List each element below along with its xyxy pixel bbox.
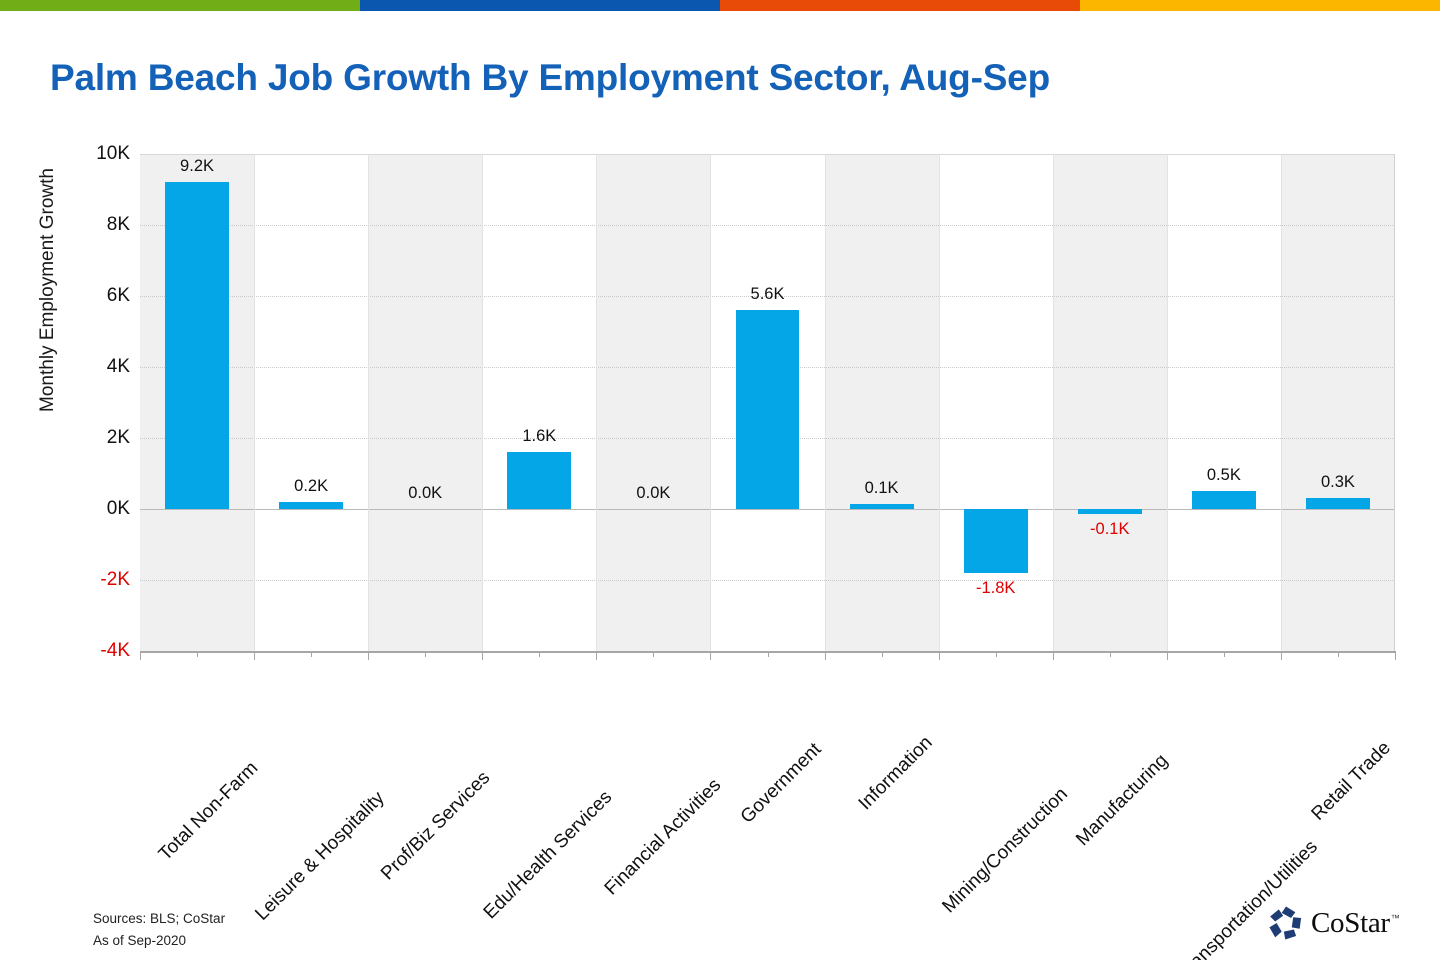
x-axis-category-label[interactable]: Prof/Biz Services [377, 767, 495, 885]
x-axis-category-label-text: Financial Activities [601, 775, 726, 900]
category-divider [1281, 154, 1282, 651]
category-divider [482, 154, 483, 651]
y-axis-tick-label: -2K [46, 569, 130, 591]
plot-area: 9.2K0.2K0.0K1.6K0.0K5.6K0.1K-1.8K-0.1K0.… [140, 154, 1395, 651]
sources-note: Sources: BLS; CoStar As of Sep-2020 [93, 908, 225, 953]
costar-logo: CoStar™ [1268, 903, 1418, 943]
x-axis-tickmark [825, 651, 826, 660]
gridline [140, 225, 1395, 226]
bar-value-label: 0.1K [865, 479, 899, 498]
x-axis-minor-tickmark [1110, 651, 1111, 657]
x-axis-category-label[interactable]: Leisure & Hospitality [251, 787, 389, 925]
x-axis-tickmark [1167, 651, 1168, 660]
x-axis-category-label-text: Mining/Construction [938, 784, 1072, 918]
costar-wordmark-text: CoStar [1311, 907, 1390, 939]
accent-segment-yellow [1080, 0, 1440, 11]
page-title: Palm Beach Job Growth By Employment Sect… [50, 57, 1050, 99]
category-divider [939, 154, 940, 651]
bar[interactable] [279, 502, 343, 509]
bar[interactable] [507, 452, 571, 509]
bar-value-label: 5.6K [751, 285, 785, 304]
x-axis-tickmark [482, 651, 483, 660]
y-axis-tick-labels: 10K8K6K4K2K0K-2K-4K [46, 154, 130, 651]
x-axis-category-label-text: Retail Trade [1308, 737, 1396, 825]
x-axis-tickmark [939, 651, 940, 660]
bar[interactable] [964, 509, 1028, 573]
category-band [482, 154, 596, 651]
y-axis-tick-label: -4K [46, 640, 130, 662]
category-band [1053, 154, 1167, 651]
x-axis-category-label[interactable]: Government [736, 739, 825, 828]
bar-value-label: 1.6K [522, 427, 556, 446]
x-axis-category-label-text: Leisure & Hospitality [251, 787, 389, 925]
category-divider [825, 154, 826, 651]
bar-value-label: 0.0K [636, 484, 670, 503]
x-axis-tickmark [710, 651, 711, 660]
x-axis-category-label[interactable]: Information [854, 732, 937, 815]
x-axis-minor-tickmark [311, 651, 312, 657]
x-axis-minor-tickmark [1224, 651, 1225, 657]
category-divider [1167, 154, 1168, 651]
bar[interactable] [850, 504, 914, 509]
accent-segment-orange [720, 0, 1080, 11]
bar-value-label: 0.0K [408, 484, 442, 503]
top-accent-bar [0, 0, 1440, 11]
x-axis-minor-tickmark [996, 651, 997, 657]
gridline [140, 580, 1395, 581]
bar[interactable] [736, 310, 800, 509]
x-axis-tickmark [1395, 651, 1396, 660]
x-axis-category-label-text: Total Non-Farm [155, 758, 263, 866]
x-axis-minor-tickmark [768, 651, 769, 657]
accent-segment-green [0, 0, 360, 11]
chart-page: Palm Beach Job Growth By Employment Sect… [0, 0, 1440, 960]
bar[interactable] [1078, 509, 1142, 514]
trademark-symbol: ™ [1391, 913, 1400, 923]
x-axis-category-label-text: Government [736, 739, 825, 828]
bar[interactable] [165, 182, 229, 509]
category-band [1167, 154, 1281, 651]
category-divider [368, 154, 369, 651]
costar-wordmark: CoStar™ [1311, 907, 1399, 940]
x-axis-category-label-text: Prof/Biz Services [377, 767, 495, 885]
gridline [140, 509, 1395, 510]
x-axis-category-label[interactable]: Manufacturing [1072, 750, 1173, 851]
x-axis-category-label-text: Manufacturing [1072, 750, 1173, 851]
x-axis-category-label-text: Edu/Health Services [480, 787, 617, 924]
category-divider [1053, 154, 1054, 651]
x-axis-minor-tickmark [197, 651, 198, 657]
x-axis-category-label-text: Information [854, 732, 937, 815]
costar-pinwheel-icon [1268, 905, 1304, 941]
x-axis-category-label[interactable]: Mining/Construction [938, 784, 1072, 918]
gridline [140, 154, 1395, 155]
bar-value-label: -1.8K [976, 579, 1015, 598]
category-band [939, 154, 1053, 651]
bar-value-label: -0.1K [1090, 520, 1129, 539]
bar-value-label: 0.3K [1321, 473, 1355, 492]
x-axis-minor-tickmark [882, 651, 883, 657]
category-band [825, 154, 939, 651]
category-band [368, 154, 482, 651]
plot-right-edge [1394, 154, 1395, 651]
x-axis-minor-tickmark [539, 651, 540, 657]
category-divider [254, 154, 255, 651]
category-band [1281, 154, 1395, 651]
y-axis-tick-label: 8K [46, 214, 130, 236]
x-axis-tickmark [1281, 651, 1282, 660]
x-axis-category-label[interactable]: Total Non-Farm [155, 758, 263, 866]
x-axis-tickmark [254, 651, 255, 660]
x-axis-tickmark [368, 651, 369, 660]
y-axis-tick-label: 10K [46, 143, 130, 165]
bar-value-label: 0.5K [1207, 466, 1241, 485]
bar[interactable] [1306, 498, 1370, 509]
x-axis-category-label[interactable]: Financial Activities [601, 775, 726, 900]
category-divider [710, 154, 711, 651]
x-axis-minor-tickmark [653, 651, 654, 657]
sources-line-1: Sources: BLS; CoStar [93, 908, 225, 930]
x-axis-tickmark [140, 651, 141, 660]
category-band [254, 154, 368, 651]
x-axis-category-label[interactable]: Retail Trade [1308, 737, 1396, 825]
x-axis-tickmark [596, 651, 597, 660]
y-axis-tick-label: 4K [46, 356, 130, 378]
y-axis-tick-label: 0K [46, 498, 130, 520]
x-axis-category-label[interactable]: Edu/Health Services [480, 787, 617, 924]
sources-line-2: As of Sep-2020 [93, 930, 225, 952]
category-divider [596, 154, 597, 651]
category-band [596, 154, 710, 651]
y-axis-tick-label: 2K [46, 427, 130, 449]
x-axis-tickmark [1053, 651, 1054, 660]
x-axis-minor-tickmark [1338, 651, 1339, 657]
y-axis-tick-label: 6K [46, 285, 130, 307]
x-axis-minor-tickmark [425, 651, 426, 657]
accent-segment-blue [360, 0, 720, 11]
bar-value-label: 9.2K [180, 157, 214, 176]
bar-value-label: 0.2K [294, 477, 328, 496]
bar[interactable] [1192, 491, 1256, 509]
